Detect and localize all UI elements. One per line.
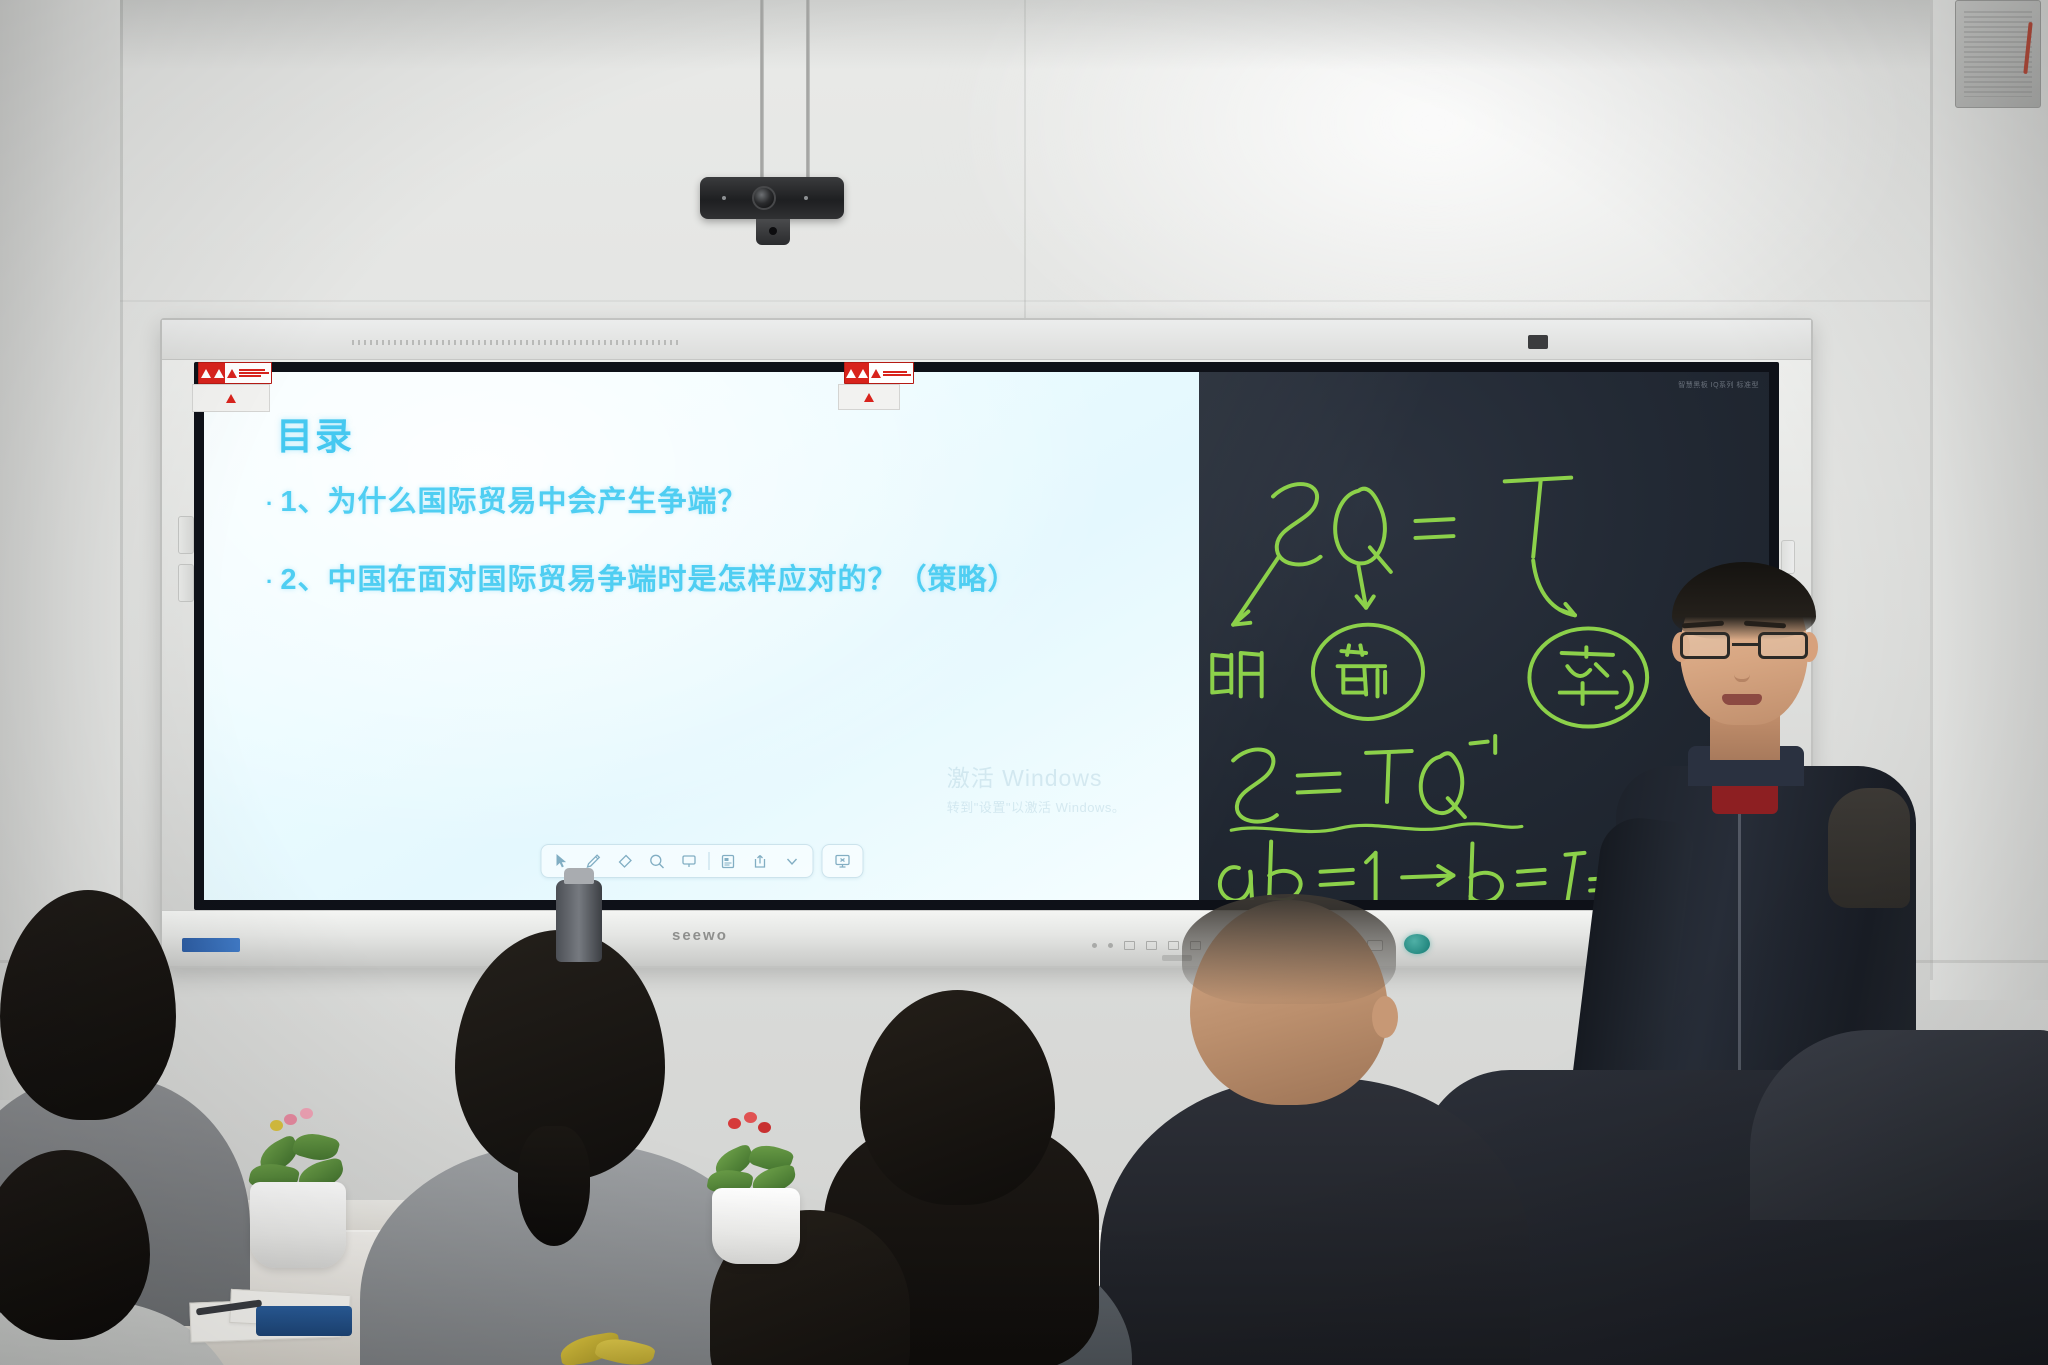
slide-bullet-2-text: 2、中国在面对国际贸易争端时是怎样应对的？（策略） (280, 556, 1017, 598)
presenter-jacket-panel (1828, 788, 1910, 908)
slide-bullet-1-text: 1、为什么国际贸易中会产生争端？ (280, 478, 747, 520)
presenter-nose (1734, 662, 1750, 682)
water-bottle (556, 880, 602, 962)
warning-symbol-icon (212, 363, 225, 383)
camera-mount-rod (760, 0, 764, 182)
bullet-marker-icon: · (266, 493, 274, 515)
watermark-title: 激活 Windows (947, 759, 1126, 793)
warning-sticker-left (198, 362, 272, 384)
audience-member (0, 1150, 220, 1365)
slide-bullet-list: · 1、为什么国际贸易中会产生争端？ · 2、中国在面对国际贸易争端时是怎样应对… (266, 478, 1159, 634)
warning-symbol-icon (199, 363, 212, 383)
presentation-exit-icon[interactable] (826, 848, 858, 874)
white-caution-sticker-center (838, 384, 900, 410)
toolbar-separator (708, 852, 709, 870)
warning-symbol-icon (857, 363, 869, 383)
plant-pot (712, 1188, 800, 1264)
plant-pot (250, 1182, 346, 1268)
plant-flower (284, 1114, 297, 1125)
audience-head (0, 1150, 150, 1340)
camera-lens-icon (752, 186, 776, 210)
audience-head (0, 890, 176, 1120)
audience-hair (1182, 894, 1396, 1004)
glasses-bridge (1732, 643, 1758, 646)
glasses-lens (1758, 632, 1808, 659)
audience-body (1100, 1078, 1530, 1365)
phone-device (256, 1306, 352, 1336)
wall-seam (120, 300, 1930, 302)
windows-activation-watermark: 激活 Windows 转到"设置"以激活 Windows。 (947, 759, 1126, 816)
audience-member (1130, 900, 1470, 1320)
camera-mic-dot (804, 196, 808, 200)
slide-panel-icon[interactable] (712, 848, 744, 874)
board-top-rail (162, 320, 1811, 360)
plant-flower (744, 1112, 757, 1123)
slide-title: 目录 (276, 406, 354, 460)
projected-slide[interactable]: 目录 · 1、为什么国际贸易中会产生争端？ · 2、中国在面对国际贸易争端时是怎… (204, 372, 1199, 900)
bullet-marker-icon: · (266, 571, 274, 593)
audience-head (860, 990, 1055, 1205)
board-side-tab[interactable] (178, 564, 194, 602)
warning-sticker-center (844, 362, 914, 384)
plant-flower (758, 1122, 771, 1133)
eraser-icon[interactable] (609, 848, 641, 874)
plant-flower (270, 1120, 283, 1131)
camera-mount-rod (806, 0, 810, 182)
board-display: 目录 · 1、为什么国际贸易中会产生争端？ · 2、中国在面对国际贸易争端时是怎… (194, 362, 1779, 910)
potted-plant (700, 1100, 830, 1275)
camera-bracket (756, 219, 790, 245)
slide-bullet-2: · 2、中国在面对国际贸易争端时是怎样应对的？（策略） (266, 556, 1159, 598)
chevron-down-icon[interactable] (776, 848, 808, 874)
potted-plant (240, 1090, 370, 1270)
magnifier-icon[interactable] (641, 848, 673, 874)
white-caution-sticker-left (192, 384, 270, 412)
audience-area (0, 900, 2048, 1365)
audience-shoulder (1750, 1030, 2048, 1220)
board-side-tab-right[interactable] (1781, 540, 1795, 574)
spotlight-icon[interactable] (673, 848, 705, 874)
warning-sticker-text (869, 363, 913, 383)
conference-camera (700, 177, 844, 219)
board-vent (352, 340, 682, 345)
camera-mic-dot (722, 196, 726, 200)
audience-ponytail (518, 1126, 590, 1246)
bottle-cap (564, 868, 594, 884)
warning-symbol-icon (845, 363, 857, 383)
toolbar-exit-group[interactable] (821, 844, 863, 878)
classroom-scene: 目录 · 1、为什么国际贸易中会产生争端？ · 2、中国在面对国际贸易争端时是怎… (0, 0, 2048, 1365)
plant-flower (728, 1118, 741, 1129)
board-side-tab[interactable] (178, 516, 194, 554)
share-icon[interactable] (744, 848, 776, 874)
audience-ear (1372, 996, 1398, 1038)
presenter-glasses (1678, 632, 1810, 660)
wall-seam (1024, 0, 1026, 330)
plant-flower (300, 1108, 313, 1119)
glasses-lens (1680, 632, 1730, 659)
presenter-hair (1672, 562, 1816, 640)
wall-seam (120, 0, 123, 1000)
slide-bullet-1: · 1、为什么国际贸易中会产生争端？ (266, 478, 1159, 520)
warning-sticker-text (225, 363, 271, 383)
watermark-subtitle: 转到"设置"以激活 Windows。 (947, 797, 1126, 816)
ir-sensor-icon (1528, 335, 1548, 349)
presenter-mouth (1722, 694, 1762, 705)
